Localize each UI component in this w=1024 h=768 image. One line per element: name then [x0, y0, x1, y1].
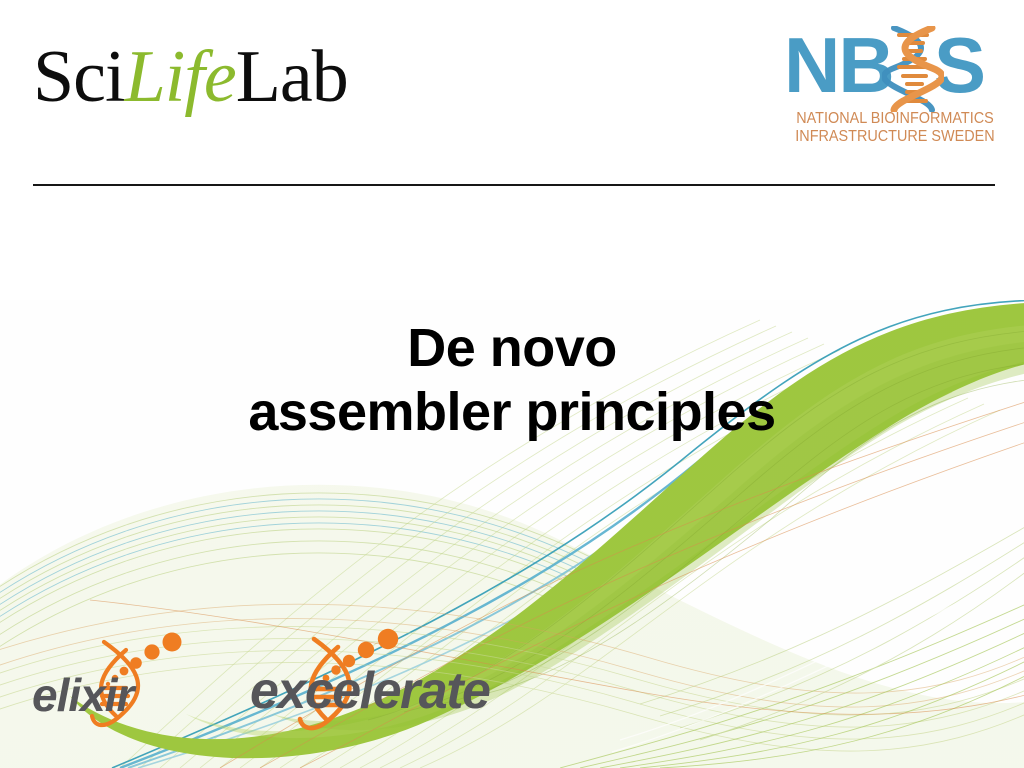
- page-title-line1: De novo: [0, 316, 1024, 380]
- nbis-subtitle-line1: NATIONAL BIOINFORMATICS: [790, 110, 1000, 128]
- nbis-letters-nb: NB: [784, 24, 893, 106]
- scilifelab-logo: SciLifeLab: [33, 40, 348, 114]
- elixir-logo: elixir: [30, 630, 200, 740]
- scilifelab-life: Life: [125, 36, 236, 118]
- page-title-line2: assembler principles: [0, 380, 1024, 444]
- nbis-subtitle: NATIONAL BIOINFORMATICS INFRASTRUCTURE S…: [790, 110, 1000, 145]
- nbis-subtitle-line2: INFRASTRUCTURE SWEDEN: [790, 128, 1000, 146]
- page-title: De novo assembler principles: [0, 316, 1024, 444]
- scilifelab-lab: Lab: [236, 36, 348, 118]
- nbis-logo: NB S: [782, 24, 1008, 152]
- slide-root: SciLifeLab NB S: [0, 0, 1024, 768]
- header-divider: [33, 184, 995, 186]
- excelerate-wordmark: excelerate: [250, 661, 489, 721]
- elixir-wordmark: elixir: [32, 668, 133, 722]
- scilifelab-sci: Sci: [33, 36, 125, 118]
- slide-header: SciLifeLab NB S: [0, 0, 1024, 190]
- excelerate-logo: excelerate: [248, 625, 568, 740]
- dna-helix-icon: [882, 26, 944, 112]
